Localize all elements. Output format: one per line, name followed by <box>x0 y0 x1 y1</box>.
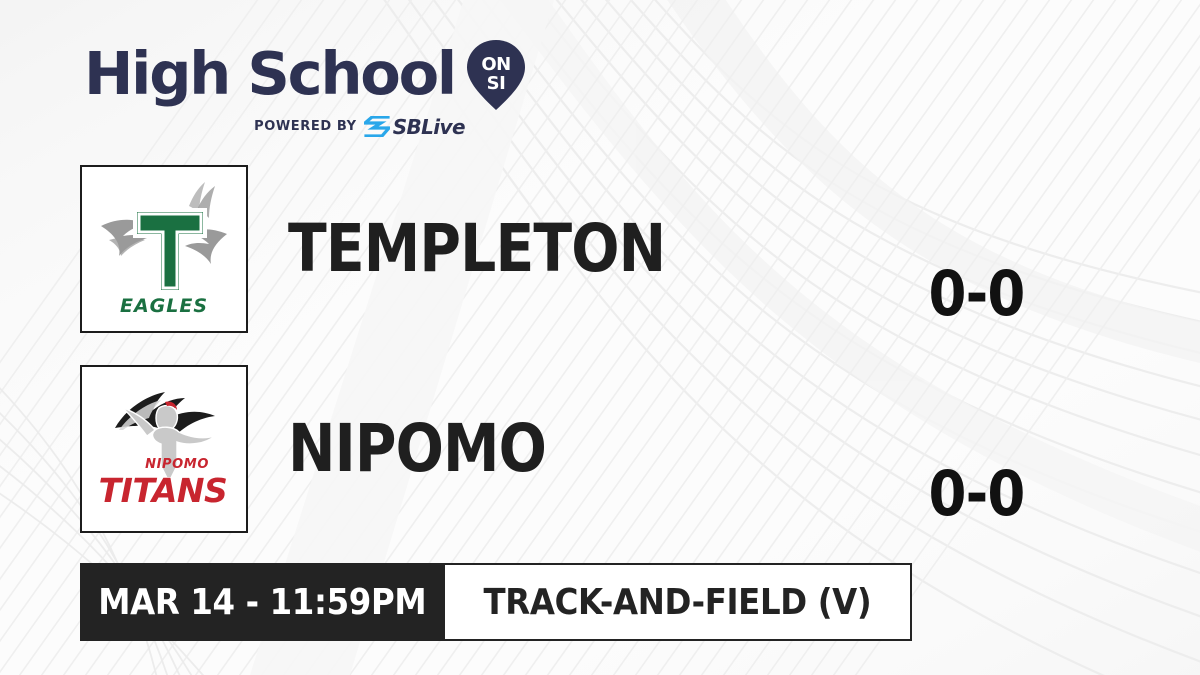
on-si-pin-line-1: ON <box>481 54 510 75</box>
game-datetime: MAR 14 - 11:59PM <box>80 563 445 641</box>
sblive-logo: SBLive <box>364 116 465 137</box>
team-score-away: 0-0 <box>929 463 1025 525</box>
sblive-s-icon <box>364 116 390 137</box>
powered-by-label: POWERED BY <box>254 119 357 134</box>
team-name-home: TEMPLETON <box>288 216 665 282</box>
team-logo-templeton: EAGLES <box>80 165 248 333</box>
game-sport-text: TRACK-AND-FIELD (V) <box>484 582 872 623</box>
sblive-wordmark: SBLive <box>393 117 465 137</box>
scorecard-graphic: High School ON SI POWERED BY SBLive <box>0 0 1200 675</box>
page-title: High School <box>84 43 455 105</box>
powered-by-row: POWERED BY SBLive <box>84 116 527 137</box>
nipomo-mascot-text: TITANS <box>99 471 228 510</box>
team-name-away: NIPOMO <box>288 416 546 482</box>
on-si-pin-icon: ON SI <box>465 38 527 112</box>
on-si-pin-line-2: SI <box>487 73 506 94</box>
brand-lockup: High School ON SI POWERED BY SBLive <box>84 36 527 137</box>
game-datetime-text: MAR 14 - 11:59PM <box>98 582 426 623</box>
team-row: EAGLES TEMPLETON <box>80 165 727 333</box>
team-logo-nipomo: NIPOMO TITANS <box>80 365 248 533</box>
nipomo-school-text: NIPOMO <box>145 457 209 472</box>
team-score-home: 0-0 <box>929 263 1025 325</box>
templeton-mascot-text: EAGLES <box>120 295 208 317</box>
team-row: NIPOMO TITANS NIPOMO <box>80 365 588 533</box>
game-sport: TRACK-AND-FIELD (V) <box>445 563 912 641</box>
game-info-bar: MAR 14 - 11:59PM TRACK-AND-FIELD (V) <box>80 563 912 641</box>
brand-title-row: High School ON SI <box>84 36 527 112</box>
